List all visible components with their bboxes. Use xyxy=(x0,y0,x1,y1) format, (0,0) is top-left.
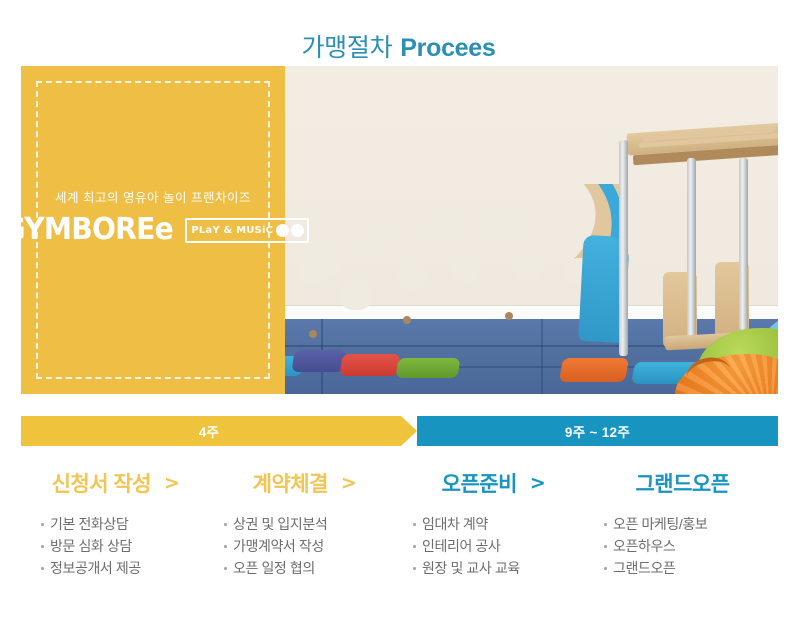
process-step-4-title: 그랜드오픈 xyxy=(635,468,729,498)
list-item: 인테리어 공사 xyxy=(413,535,588,557)
process-step-1-header: 신청서 작성 > xyxy=(21,462,210,504)
brand-panel: 세계 최고의 영유아 놀이 프랜차이즈 GYMBOREe PLaY & MUSi… xyxy=(21,66,285,394)
brand-logo: GYMBOREe PLaY & MUSiC xyxy=(21,215,285,245)
play-and-music-badge: PLaY & MUSiC xyxy=(185,218,309,243)
list-item: 오픈 마케팅/홍보 xyxy=(604,513,777,535)
process-step-1-list: 기본 전화상담 방문 심화 상담 정보공개서 제공 xyxy=(21,513,210,579)
process-step-1: 신청서 작성 > 기본 전화상담 방문 심화 상담 정보공개서 제공 xyxy=(21,462,210,579)
chevron-right-icon: > xyxy=(164,472,179,494)
foam-mat xyxy=(396,358,461,378)
badge-circles-icon xyxy=(276,224,307,237)
page-title-korean: 가맹절차 xyxy=(301,34,392,62)
arch-peg-hole xyxy=(403,316,411,324)
timeline-segment-phase1: 4주 xyxy=(21,416,417,446)
process-step-3-list: 임대차 계약 인테리어 공사 원장 및 교사 교육 xyxy=(399,513,588,579)
list-item: 원장 및 교사 교육 xyxy=(413,557,588,579)
arch-cutout xyxy=(513,252,543,280)
timeline-bar: 4주 9주 ~ 12주 xyxy=(21,416,778,446)
timeline-segment-phase2: 9주 ~ 12주 xyxy=(417,416,778,446)
process-step-1-title: 신청서 작성 xyxy=(52,468,151,498)
list-item: 가맹계약서 작성 xyxy=(224,535,399,557)
list-item: 임대차 계약 xyxy=(413,513,588,535)
list-item: 방문 심화 상담 xyxy=(41,535,210,557)
metal-post xyxy=(619,140,628,356)
list-item: 상권 및 입지분석 xyxy=(224,513,399,535)
arch-cutout xyxy=(451,254,481,282)
foam-mat xyxy=(339,354,400,376)
process-step-3-header: 오픈준비 > xyxy=(399,462,588,504)
metal-post xyxy=(687,158,696,344)
metal-post xyxy=(739,158,748,330)
list-item: 그랜드오픈 xyxy=(604,557,777,579)
chevron-right-icon: > xyxy=(530,472,545,494)
process-step-4-header: 그랜드오픈 xyxy=(588,462,777,504)
gymboree-wordmark: GYMBOREe xyxy=(21,215,173,245)
process-step-2-list: 상권 및 입지분석 가맹계약서 작성 오픈 일정 협의 xyxy=(210,513,399,579)
process-step-2-header: 계약체결 > xyxy=(210,462,399,504)
list-item: 정보공개서 제공 xyxy=(41,557,210,579)
timeline-segment-phase1-label: 4주 xyxy=(199,421,220,441)
timeline-segment-phase2-label: 9주 ~ 12주 xyxy=(565,421,630,441)
process-step-2-title: 계약체결 xyxy=(253,468,328,498)
brand-tagline: 세계 최고의 영유아 놀이 프랜차이즈 xyxy=(21,187,285,206)
process-steps: 신청서 작성 > 기본 전화상담 방문 심화 상담 정보공개서 제공 계약체결 … xyxy=(21,462,778,579)
arch-cutout xyxy=(397,262,427,290)
arch-cutout xyxy=(483,213,538,235)
process-step-3: 오픈준비 > 임대차 계약 인테리어 공사 원장 및 교사 교육 xyxy=(399,462,588,579)
list-item: 오픈하우스 xyxy=(604,535,777,557)
play-and-music-label: PLaY & MUSiC xyxy=(191,225,276,236)
list-item: 기본 전화상담 xyxy=(41,513,210,535)
foam-mat xyxy=(291,350,346,372)
arch-cutout xyxy=(339,280,373,310)
arch-peg-hole xyxy=(505,312,513,320)
process-step-3-title: 오픈준비 xyxy=(442,468,517,498)
page-title: 가맹절차Procees xyxy=(0,31,797,65)
arch-peg-hole xyxy=(309,330,317,338)
foam-mat xyxy=(559,358,629,382)
list-item: 오픈 일정 협의 xyxy=(224,557,399,579)
process-step-2: 계약체결 > 상권 및 입지분석 가맹계약서 작성 오픈 일정 협의 xyxy=(210,462,399,579)
brand-content: 세계 최고의 영유아 놀이 프랜차이즈 GYMBOREe PLaY & MUSi… xyxy=(21,187,285,245)
hero-banner: 세계 최고의 영유아 놀이 프랜차이즈 GYMBOREe PLaY & MUSi… xyxy=(21,66,778,394)
process-step-4-list: 오픈 마케팅/홍보 오픈하우스 그랜드오픈 xyxy=(588,513,777,579)
page-title-english: Procees xyxy=(400,34,495,62)
process-step-4: 그랜드오픈 오픈 마케팅/홍보 오픈하우스 그랜드오픈 xyxy=(588,462,777,579)
chevron-right-icon: > xyxy=(341,472,356,494)
